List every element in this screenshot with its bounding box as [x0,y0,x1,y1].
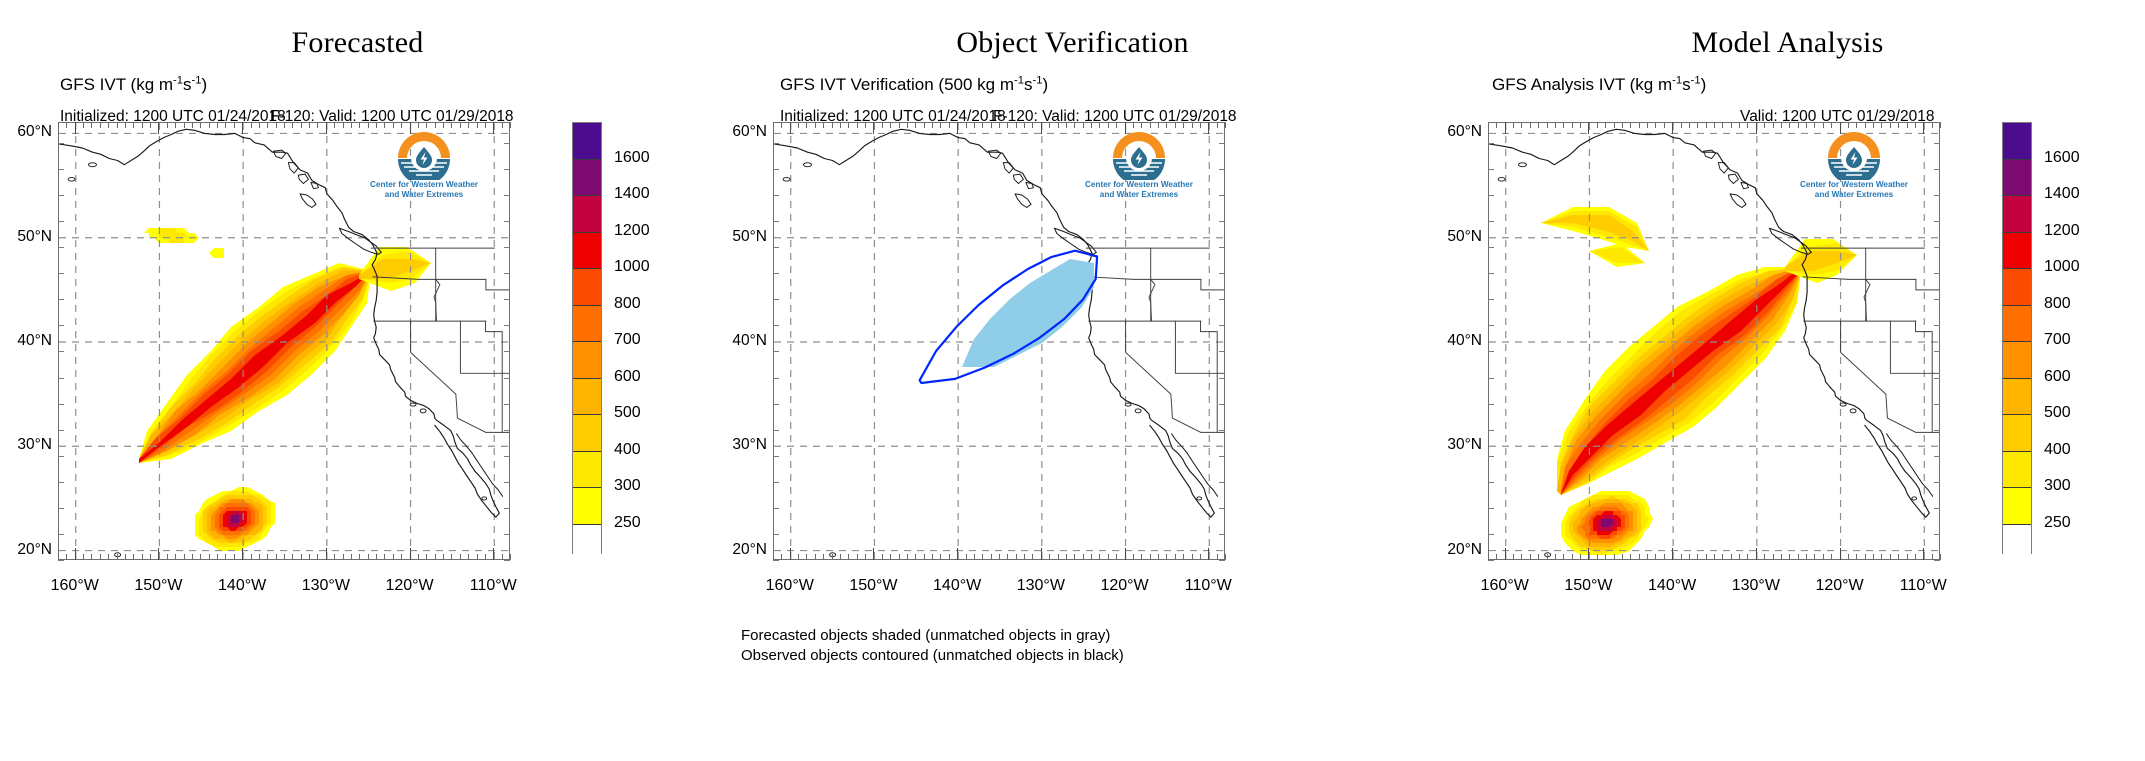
x-tick-minor [251,554,252,560]
x-tick-minor [1856,122,1857,128]
y-tick-minor [773,273,779,274]
forecast-object-shaded [962,259,1094,367]
x-tick-minor [1907,554,1908,560]
x-tick-minor [1158,122,1159,128]
colorbar-cell-0 [2003,525,2031,592]
y-axis-label-30°N: 30°N [1426,436,1482,454]
x-tick-minor [108,122,109,128]
x-tick-minor [1915,554,1916,560]
x-tick-minor [882,554,883,560]
colorbar-label-700: 700 [614,331,641,349]
y-axis-label-50°N: 50°N [0,228,52,246]
panel-forecast: Forecasted GFS IVT (kg m-1s-1) Initializ… [0,0,715,761]
x-tick-minor [83,554,84,560]
x-axis-label-140°W: 140°W [1627,577,1717,595]
x-tick-minor [217,554,218,560]
x-tick-minor [1547,122,1548,128]
x-tick-minor [1856,554,1857,560]
x-tick-minor [907,122,908,128]
x-tick-minor [1496,122,1497,128]
island-4 [1498,178,1505,182]
y-tick-minor [1488,299,1494,300]
x-tick-minor [343,554,344,560]
x-tick-minor [267,122,268,128]
y-axis-label-50°N: 50°N [711,228,767,246]
cw3e-logo: Center for Western Weatherand Water Extr… [358,132,490,206]
coastline-alaska-island-2 [298,174,308,183]
y-tick-minor [1488,560,1494,561]
y-axis-label-40°N: 40°N [711,332,767,350]
x-tick-minor [1158,554,1159,560]
y-tick-minor [773,221,779,222]
x-tick-major [75,122,76,134]
x-tick-major [1840,548,1841,560]
x-tick-minor [502,122,503,128]
x-tick-minor [301,554,302,560]
x-tick-minor [1166,554,1167,560]
island-5 [115,553,121,557]
x-tick-minor [225,122,226,128]
y-tick-minor [1488,273,1494,274]
y-tick-minor [1934,195,1940,196]
x-tick-minor [292,122,293,128]
x-tick-minor [234,122,235,128]
y-axis-label-30°N: 30°N [0,436,52,454]
x-tick-minor [1831,554,1832,560]
x-tick-minor [1655,122,1656,128]
x-tick-minor [1848,554,1849,560]
object-layer [920,251,1098,383]
y-tick-minor [1934,430,1940,431]
x-tick-minor [510,122,511,128]
y-tick-minor [773,534,779,535]
x-tick-minor [1192,122,1193,128]
colorbar-label-250: 250 [614,514,641,532]
x-tick-minor [949,122,950,128]
x-tick-minor [815,554,816,560]
x-tick-minor [1024,122,1025,128]
x-tick-minor [999,554,1000,560]
x-tick-minor [1133,122,1134,128]
island-0 [420,409,426,413]
x-tick-minor [890,122,891,128]
island-0 [1135,409,1141,413]
x-tick-minor [806,122,807,128]
x-tick-major [1756,122,1757,134]
border-line-9 [1916,279,1940,290]
x-tick-minor [225,554,226,560]
x-tick-minor [899,554,900,560]
x-tick-major [1505,548,1506,560]
colorbar-cell-1 [573,488,601,525]
x-tick-minor [1639,554,1640,560]
x-tick-minor [1150,554,1151,560]
y-tick-minor [1219,456,1225,457]
x-tick-minor [974,554,975,560]
x-tick-minor [1225,554,1226,560]
x-tick-minor [865,122,866,128]
x-tick-major [242,122,243,134]
x-tick-minor [1597,554,1598,560]
island-3 [89,163,97,167]
y-tick-minor [1219,560,1225,561]
x-tick-minor [1032,554,1033,560]
ivt-level-1000 [139,271,371,463]
x-tick-minor [1697,554,1698,560]
x-tick-minor [857,554,858,560]
colorbar-label-500: 500 [2044,404,2071,422]
x-tick-minor [1706,554,1707,560]
x-axis-label-140°W: 140°W [197,577,287,595]
colorbar-label-1600: 1600 [614,149,650,167]
y-tick-minor [58,482,64,483]
x-tick-minor [966,122,967,128]
y-tick-minor [504,221,510,222]
x-tick-minor [309,122,310,128]
island-1 [1125,403,1131,406]
x-tick-minor [1016,554,1017,560]
border-line-9 [486,279,510,290]
x-tick-minor [1580,554,1581,560]
y-tick-minor [773,195,779,196]
x-tick-minor [1217,554,1218,560]
x-tick-minor [117,554,118,560]
x-tick-minor [209,122,210,128]
y-tick-minor [1219,299,1225,300]
colorbar-cell-10 [573,160,601,197]
y-tick-minor [1219,351,1225,352]
colorbar-label-1600: 1600 [2044,149,2080,167]
x-tick-minor [806,554,807,560]
y-tick-minor [504,430,510,431]
cw3e-logo-mark [1788,132,1920,180]
x-tick-minor [1066,122,1067,128]
x-tick-minor [301,122,302,128]
coastline-haida-gwaii [1015,194,1031,208]
x-tick-minor [1538,554,1539,560]
x-tick-minor [1848,122,1849,128]
x-tick-minor [384,554,385,560]
y-tick-minor [504,247,510,248]
coastline-haida-gwaii [1730,194,1746,208]
x-axis-label-150°W: 150°W [828,577,918,595]
x-tick-minor [217,122,218,128]
x-tick-minor [1647,122,1648,128]
x-tick-major [1672,122,1673,134]
x-tick-minor [1200,122,1201,128]
x-tick-minor [175,122,176,128]
y-tick-minor [773,456,779,457]
y-tick-minor [1488,378,1494,379]
y-tick-minor [58,404,64,405]
y-axis-label-20°N: 20°N [711,541,767,559]
x-tick-minor [1689,554,1690,560]
y-tick-minor [504,351,510,352]
x-tick-major [493,548,494,560]
colorbar-label-1200: 1200 [614,222,650,240]
x-tick-minor [1074,554,1075,560]
y-tick-minor [1488,430,1494,431]
x-tick-minor [393,554,394,560]
x-tick-minor [435,122,436,128]
x-tick-minor [1898,122,1899,128]
x-tick-minor [1513,122,1514,128]
x-axis-label-120°W: 120°W [365,577,455,595]
x-tick-minor [1141,122,1142,128]
x-tick-minor [1881,122,1882,128]
y-tick-minor [1488,482,1494,483]
x-tick-minor [1007,122,1008,128]
x-tick-major [1041,122,1042,134]
panel-subtitle-forecast: GFS IVT (kg m-1s-1) [60,75,207,95]
y-tick-minor [504,404,510,405]
y-tick-minor [1934,325,1940,326]
x-tick-minor [184,554,185,560]
y-tick-minor [504,456,510,457]
x-tick-major [75,548,76,560]
y-tick-minor [1219,221,1225,222]
x-tick-minor [1133,554,1134,560]
x-tick-minor [334,554,335,560]
border-line-4 [1886,394,1940,432]
colorbar-label-1200: 1200 [2044,222,2080,240]
x-tick-minor [376,122,377,128]
colorbar-label-500: 500 [614,404,641,422]
colorbar-cell-6 [2003,306,2031,343]
coastline-alaska-island-1 [1718,163,1728,174]
x-tick-minor [133,122,134,128]
x-tick-minor [1530,122,1531,128]
colorbar-forecast [572,122,602,554]
x-axis-label-120°W: 120°W [1080,577,1170,595]
island-3 [1519,163,1527,167]
x-tick-minor [485,122,486,128]
x-tick-minor [276,122,277,128]
x-tick-minor [175,554,176,560]
x-axis-label-110°W: 110°W [1878,577,1968,595]
border-line-8 [1890,321,1932,373]
x-tick-minor [1150,122,1151,128]
border-line-4 [1171,394,1225,432]
x-tick-minor [91,554,92,560]
coastline-alaska-island-2 [1728,174,1738,183]
x-tick-major [790,122,791,134]
colorbar-label-1400: 1400 [2044,185,2080,203]
x-tick-minor [1898,554,1899,560]
x-axis-label-150°W: 150°W [1543,577,1633,595]
x-tick-minor [915,122,916,128]
coastline-alaska-island-0 [273,150,286,158]
y-tick-minor [1488,508,1494,509]
x-tick-minor [1563,554,1564,560]
x-tick-minor [284,122,285,128]
y-tick-minor [1219,195,1225,196]
x-tick-minor [1747,122,1748,128]
colorbar-cell-2 [2003,452,2031,489]
y-tick-minor [504,299,510,300]
x-tick-minor [982,122,983,128]
border-line-8 [460,321,502,373]
x-tick-major [410,548,411,560]
x-tick-minor [1814,554,1815,560]
y-tick-minor [58,169,64,170]
x-tick-minor [108,554,109,560]
x-tick-minor [468,554,469,560]
y-tick-minor [1934,221,1940,222]
x-tick-minor [1108,122,1109,128]
x-tick-minor [368,122,369,128]
x-tick-minor [1605,554,1606,560]
x-tick-minor [1083,554,1084,560]
x-tick-minor [798,122,799,128]
y-tick-minor [773,351,779,352]
x-tick-minor [477,554,478,560]
x-tick-minor [1175,554,1176,560]
x-tick-minor [1630,554,1631,560]
x-tick-minor [848,554,849,560]
x-tick-minor [1681,122,1682,128]
x-tick-minor [1664,122,1665,128]
x-tick-minor [1865,554,1866,560]
x-tick-minor [932,554,933,560]
x-tick-minor [460,554,461,560]
panel-title-verification: Object Verification [715,26,1430,60]
y-tick-minor [58,351,64,352]
y-tick-minor [773,299,779,300]
y-tick-minor [1219,247,1225,248]
x-tick-minor [815,122,816,128]
x-tick-minor [251,122,252,128]
x-tick-minor [1940,554,1941,560]
x-tick-minor [1630,122,1631,128]
x-tick-minor [840,554,841,560]
border-line-10 [1149,279,1155,321]
x-tick-minor [1722,122,1723,128]
x-tick-minor [200,554,201,560]
x-tick-minor [117,122,118,128]
y-tick-minor [1934,273,1940,274]
colorbar-label-1400: 1400 [614,185,650,203]
panel-title-analysis: Model Analysis [1430,26,2145,60]
x-tick-minor [1116,554,1117,560]
x-tick-major [1125,548,1126,560]
x-tick-minor [1647,554,1648,560]
x-tick-major [1208,122,1209,134]
x-axis-label-130°W: 130°W [996,577,1086,595]
border-line-8 [1175,321,1217,373]
y-tick-minor [1488,143,1494,144]
x-tick-minor [142,122,143,128]
x-tick-major [790,548,791,560]
cw3e-logo-text: Center for Western Weatherand Water Extr… [358,180,490,200]
coastline-gulf-of-california [457,434,503,497]
x-tick-major [1923,122,1924,134]
island-2 [1197,497,1202,500]
cw3e-logo-text: Center for Western Weatherand Water Extr… [1073,180,1205,200]
y-tick-minor [1219,273,1225,274]
x-tick-minor [1739,554,1740,560]
colorbar-label-800: 800 [614,295,641,313]
coastline-alaska [1489,129,1665,164]
x-tick-minor [1915,122,1916,128]
x-tick-minor [359,554,360,560]
x-tick-minor [1083,122,1084,128]
coastline-gulf-of-california [1172,434,1218,497]
y-tick-minor [1219,325,1225,326]
x-tick-minor [1823,554,1824,560]
x-tick-minor [401,554,402,560]
border-line-10 [1864,279,1870,321]
island-0 [1850,409,1856,413]
x-tick-minor [1183,122,1184,128]
x-tick-minor [1091,554,1092,560]
x-tick-minor [292,554,293,560]
x-tick-minor [259,122,260,128]
x-tick-minor [1781,554,1782,560]
x-tick-minor [1806,122,1807,128]
subtitle-text: GFS IVT Verification (500 kg m [780,75,1014,94]
colorbar-cell-7 [573,269,601,306]
border-line-4 [456,394,510,432]
y-tick-minor [1488,247,1494,248]
y-tick-minor [773,560,779,561]
colorbar-cell-5 [573,342,601,379]
island-5 [830,553,836,557]
x-axis-label-110°W: 110°W [448,577,538,595]
colorbar-cell-8 [573,233,601,270]
x-tick-minor [184,122,185,128]
x-tick-minor [1058,554,1059,560]
ivt-shading-layer [1541,207,1857,555]
x-tick-minor [460,122,461,128]
x-tick-minor [133,554,134,560]
x-tick-major [326,122,327,134]
island-4 [783,178,790,182]
y-tick-minor [1934,534,1940,535]
x-tick-minor [1798,554,1799,560]
x-tick-minor [451,122,452,128]
y-tick-minor [773,247,779,248]
x-tick-major [1588,122,1589,134]
x-tick-minor [1538,122,1539,128]
coastline-gulf-of-california [1887,434,1933,497]
y-tick-minor [1219,404,1225,405]
x-tick-minor [1639,122,1640,128]
x-tick-minor [1141,554,1142,560]
tropical-ivt-level-1400 [231,515,239,523]
x-tick-minor [1007,554,1008,560]
x-tick-minor [1597,122,1598,128]
panel-subtitle-analysis: GFS Analysis IVT (kg m-1s-1) [1492,75,1706,95]
y-axis-label-30°N: 30°N [711,436,767,454]
x-tick-minor [1074,122,1075,128]
y-tick-minor [504,143,510,144]
x-tick-minor [1655,554,1656,560]
colorbar-cell-11 [573,123,601,160]
coastline-alaska-island-0 [1703,150,1716,158]
y-tick-minor [58,299,64,300]
x-tick-major [158,548,159,560]
x-tick-minor [1664,554,1665,560]
x-tick-minor [1058,122,1059,128]
x-tick-minor [1066,554,1067,560]
island-1 [1840,403,1846,406]
x-tick-minor [840,122,841,128]
x-tick-minor [999,122,1000,128]
x-tick-major [242,548,243,560]
x-tick-minor [1091,122,1092,128]
x-tick-minor [1622,554,1623,560]
